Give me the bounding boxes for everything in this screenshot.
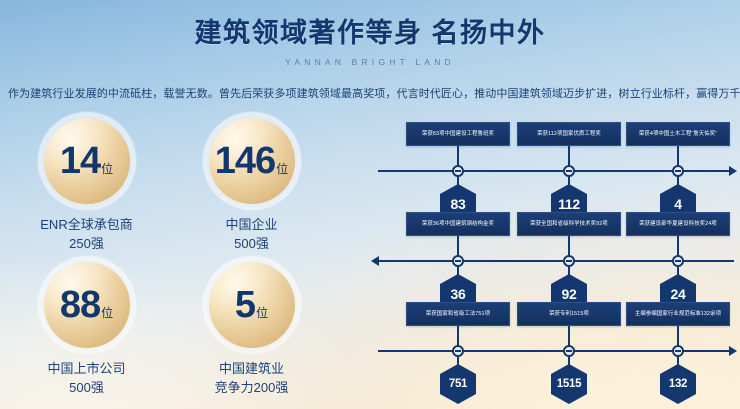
stat-value: 146 [215, 142, 275, 180]
stat-unit: 位 [256, 304, 268, 321]
award-count-hexagon: 751 [440, 364, 476, 404]
award-count-value: 36 [451, 286, 466, 302]
page-subtitle: YANNAN BRIGHT LAND [0, 57, 740, 67]
arrow-right-icon [729, 346, 737, 356]
stat-unit: 位 [101, 160, 113, 177]
connector-stem-top [568, 326, 570, 346]
award-count-value: 4 [674, 196, 682, 212]
timeline-node-icon [452, 345, 464, 357]
timeline-row: 荣获36项中国建筑钢结构金奖 36 荣获全国和省级科学技术奖92项 92 荣获建… [372, 212, 736, 300]
hero-header: 建筑领域著作等身 名扬中外 YANNAN BRIGHT LAND [0, 16, 740, 67]
award-count-value: 83 [451, 196, 466, 212]
timeline-item[interactable]: 主编参编国家行业规范标准132余项 132 [626, 302, 730, 326]
stat-label-line2: 竞争力200强 [215, 378, 289, 397]
timeline-item[interactable]: 荣获专利1515项 1515 [517, 302, 621, 326]
timeline-node-icon [672, 165, 684, 177]
stat-value: 5 [235, 286, 255, 324]
timeline-item[interactable]: 荣获83项中国建设工程鲁班奖 83 [406, 122, 510, 146]
stat-label-line1: 中国建筑业 [219, 361, 284, 376]
stat-item: 14 位 ENR全球承包商 250强 [4, 118, 169, 262]
award-caption: 主编参编国家行业规范标准132余项 [626, 302, 730, 326]
stat-label-line2: 500强 [47, 378, 125, 397]
stat-label: 中国上市公司 500强 [47, 359, 125, 397]
timeline-node-icon [452, 255, 464, 267]
arrow-right-icon [729, 166, 737, 176]
award-count-value: 132 [669, 378, 687, 390]
award-count-value: 92 [562, 286, 577, 302]
stat-badge-inner: 88 位 [60, 286, 113, 324]
stat-label-line1: 中国企业 [225, 217, 277, 232]
award-count-hexagon: 132 [660, 364, 696, 404]
connector-stem-top [677, 146, 679, 166]
stat-item: 88 位 中国上市公司 500强 [4, 262, 169, 406]
timeline-node-icon [452, 165, 464, 177]
award-count-value: 112 [558, 196, 580, 212]
connector-stem-top [568, 146, 570, 166]
award-count-value: 24 [671, 286, 686, 302]
award-caption: 荣获4项中国土木工程“詹天佑奖” [626, 122, 730, 146]
stat-badge-inner: 5 位 [235, 286, 268, 324]
stat-item: 5 位 中国建筑业 竞争力200强 [169, 262, 334, 406]
timeline-node-icon [672, 255, 684, 267]
award-count-hexagon: 1515 [551, 364, 587, 404]
connector-stem-top [457, 326, 459, 346]
timeline-item[interactable]: 荣获36项中国建筑钢结构金奖 36 [406, 212, 510, 236]
stat-label-line2: 250强 [40, 234, 132, 253]
connector-stem-top [457, 146, 459, 166]
stat-label: 中国企业 500强 [225, 215, 277, 253]
award-caption: 荣获112项国家优质工程奖 [517, 122, 621, 146]
connector-stem-top [677, 236, 679, 256]
stat-badge-circle: 146 位 [209, 118, 295, 204]
stat-label: ENR全球承包商 250强 [40, 215, 132, 253]
stat-badge-circle: 5 位 [209, 262, 295, 348]
award-caption: 荣获36项中国建筑钢结构金奖 [406, 212, 510, 236]
timeline-row: 荣获国家和省级工法751项 751 荣获专利1515项 1515 主编参编国家行… [372, 302, 736, 390]
timeline-item[interactable]: 荣获国家和省级工法751项 751 [406, 302, 510, 326]
page-description: 作为建筑行业发展的中流砥柱，载誉无数。曾先后荣获多项建筑领域最高奖项，代言时代匠… [0, 86, 740, 102]
stat-unit: 位 [101, 304, 113, 321]
award-caption: 荣获全国和省级科学技术奖92项 [517, 212, 621, 236]
timeline-item[interactable]: 荣获全国和省级科学技术奖92项 92 [517, 212, 621, 236]
arrow-left-icon [371, 256, 379, 266]
stat-value: 88 [60, 286, 100, 324]
stat-badge-inner: 146 位 [215, 142, 288, 180]
award-caption: 荣获83项中国建设工程鲁班奖 [406, 122, 510, 146]
stat-unit: 位 [276, 160, 288, 177]
timeline-node-icon [563, 255, 575, 267]
honors-infographic-page: 建筑领域著作等身 名扬中外 YANNAN BRIGHT LAND 作为建筑行业发… [0, 0, 740, 409]
timeline-item[interactable]: 荣获112项国家优质工程奖 112 [517, 122, 621, 146]
timeline-item[interactable]: 荣获建设部华夏建设科技奖24项 24 [626, 212, 730, 236]
stat-label-line1: ENR全球承包商 [40, 217, 132, 232]
timeline-row: 荣获83项中国建设工程鲁班奖 83 荣获112项国家优质工程奖 112 荣获4项… [372, 122, 736, 210]
stat-badge-inner: 14 位 [60, 142, 113, 180]
connector-stem-top [677, 326, 679, 346]
stat-item: 146 位 中国企业 500强 [169, 118, 334, 262]
award-count-value: 751 [449, 378, 467, 390]
stat-badge-circle: 14 位 [44, 118, 130, 204]
connector-stem-top [568, 236, 570, 256]
award-caption: 荣获专利1515项 [517, 302, 621, 326]
timeline-node-icon [672, 345, 684, 357]
timeline-node-icon [563, 345, 575, 357]
connector-stem-top [457, 236, 459, 256]
award-count-value: 1515 [557, 378, 581, 390]
timeline-node-icon [563, 165, 575, 177]
page-title: 建筑领域著作等身 名扬中外 [0, 16, 740, 50]
award-caption: 荣获建设部华夏建设科技奖24项 [626, 212, 730, 236]
stat-label-line1: 中国上市公司 [47, 361, 125, 376]
stat-value: 14 [60, 142, 100, 180]
award-caption: 荣获国家和省级工法751项 [406, 302, 510, 326]
stat-badge-circle: 88 位 [44, 262, 130, 348]
stat-label: 中国建筑业 竞争力200强 [215, 359, 289, 397]
stats-grid: 14 位 ENR全球承包商 250强 146 位 中国企业 500强 [4, 118, 334, 406]
awards-timelines: 荣获83项中国建设工程鲁班奖 83 荣获112项国家优质工程奖 112 荣获4项… [372, 122, 736, 397]
stat-label-line2: 500强 [225, 234, 277, 253]
timeline-item[interactable]: 荣获4项中国土木工程“詹天佑奖” 4 [626, 122, 730, 146]
